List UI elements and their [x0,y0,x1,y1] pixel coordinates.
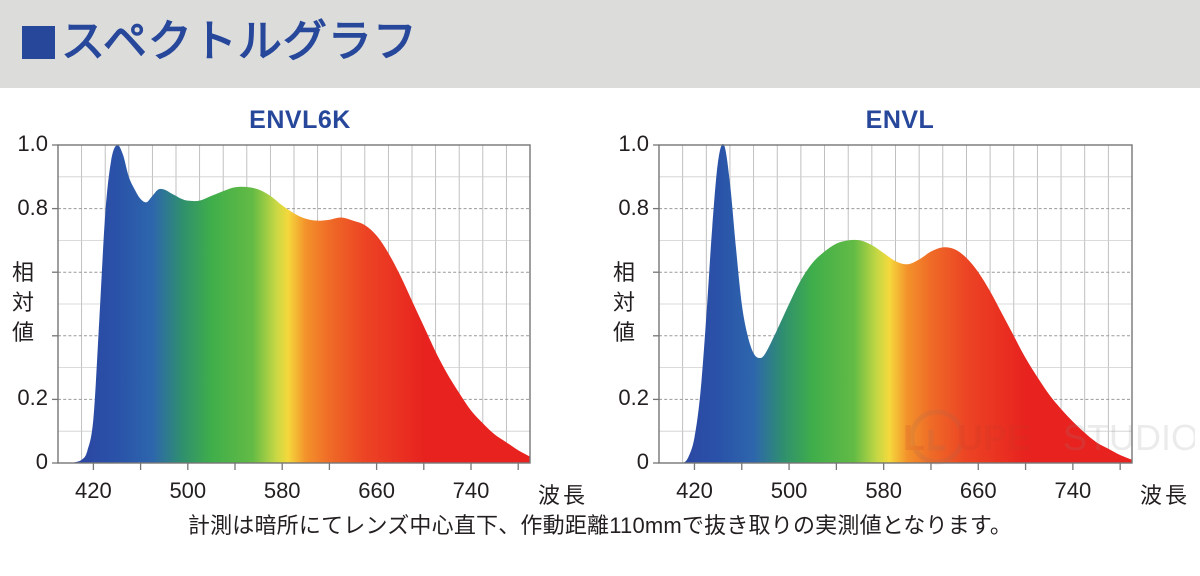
x-tick-label: 740 [445,478,497,504]
chart-envl: ENVL 1.00.80.20相対値420500580660740波長 [600,88,1200,508]
x-tick-label: 500 [763,478,815,504]
y-tick-marks [52,145,58,463]
y-axis-label: 相対値 [611,258,637,348]
y-axis-label-char: 対 [10,288,36,318]
y-tick-label: 0.8 [17,195,48,221]
y-tick-label: 0 [637,449,649,475]
x-tick-label: 660 [952,478,1004,504]
page-title-text: スペクトルグラフ [61,17,418,66]
spectrum-plot-envl6k [0,88,600,508]
x-tick-label: 420 [668,478,720,504]
x-tick-label: 580 [256,478,308,504]
x-tick-label: 740 [1047,478,1099,504]
y-tick-label: 1.0 [17,131,48,157]
x-axis-label: 波長 [1140,478,1190,510]
y-tick-label: 1.0 [618,131,649,157]
y-axis-label-char: 値 [611,318,637,348]
x-tick-marks [93,463,518,470]
y-tick-label: 0.8 [618,195,649,221]
y-tick-marks [653,145,659,463]
page-title: スペクトルグラフ [22,13,418,71]
x-tick-label: 420 [67,478,119,504]
y-axis-label-char: 相 [611,258,637,288]
y-axis-label: 相対値 [10,258,36,348]
x-tick-marks [694,463,1120,470]
y-tick-label: 0 [36,449,48,475]
x-tick-label: 660 [351,478,403,504]
title-marker-square [22,26,55,59]
y-axis-label-char: 値 [10,318,36,348]
x-axis-label: 波長 [538,478,588,510]
y-tick-label: 0.2 [618,385,649,411]
spectrum-plot-envl [600,88,1200,508]
x-tick-label: 580 [858,478,910,504]
measurement-caption: 計測は暗所にてレンズ中心直下、作動距離110mmで抜き取りの実測値となります。 [0,508,1200,540]
y-tick-label: 0.2 [17,385,48,411]
x-tick-label: 500 [162,478,214,504]
chart-envl6k: ENVL6K 1.00.80.20相対値420500580660740波長 [0,88,600,508]
y-axis-label-char: 相 [10,258,36,288]
y-axis-label-char: 対 [611,288,637,318]
